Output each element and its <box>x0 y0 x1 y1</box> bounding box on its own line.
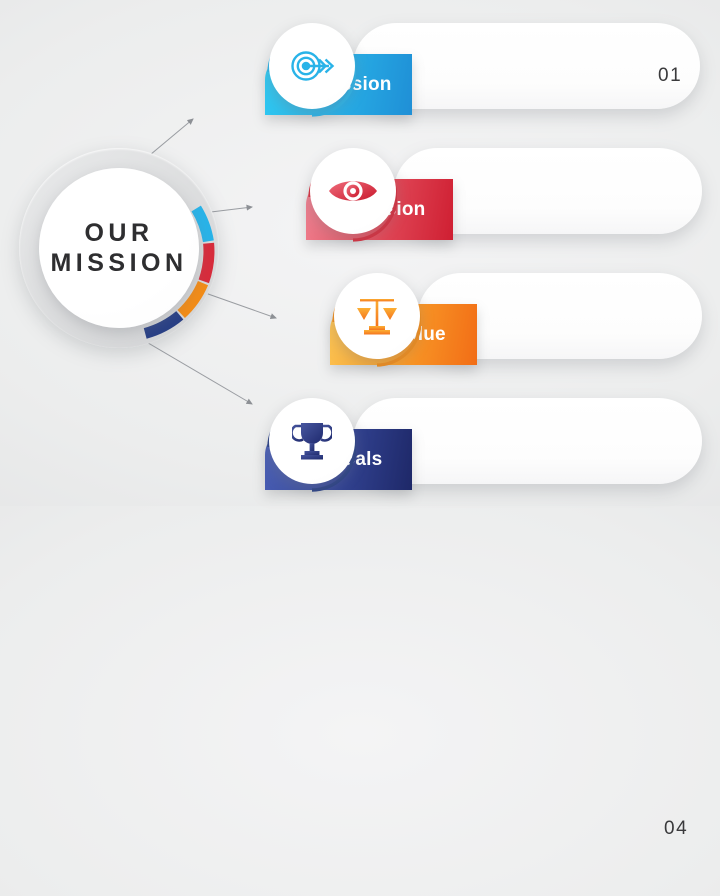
hub-inner-disc: OUR MISSION <box>39 168 199 328</box>
hub-title-line2: MISSION <box>50 248 187 279</box>
card-mission[interactable]: Mission 01 EXCEPTIONAL SERVICES TO CLIEN… <box>265 23 702 109</box>
card-icon-vision <box>310 148 396 234</box>
ring-segment-vision <box>204 243 209 281</box>
card-icon-goals <box>269 398 355 484</box>
card-vision[interactable]: Vision 02 CONVERT DREAMS OF STUDENTS INT… <box>306 148 702 234</box>
card-value[interactable]: Value 03 CONSTRUCTIVE INTERACTION & IMP <box>330 273 702 359</box>
card-goals[interactable]: Goals 04 MENTORING & REWARDING <box>265 398 702 484</box>
card-number-goals: 04 <box>664 818 688 840</box>
card-number-mission: 01 <box>658 65 682 87</box>
card-icon-mission <box>269 23 355 109</box>
hub-title-line1: OUR <box>84 218 153 249</box>
balance-scale-icon <box>355 295 399 337</box>
eye-icon <box>328 176 378 206</box>
card-icon-value <box>334 273 420 359</box>
trophy-icon <box>292 420 332 462</box>
infographic-canvas: OUR MISSION Mission 01 EXCEPTIO <box>0 0 720 506</box>
center-hub: OUR MISSION <box>19 148 219 348</box>
target-arrow-icon <box>289 48 335 84</box>
